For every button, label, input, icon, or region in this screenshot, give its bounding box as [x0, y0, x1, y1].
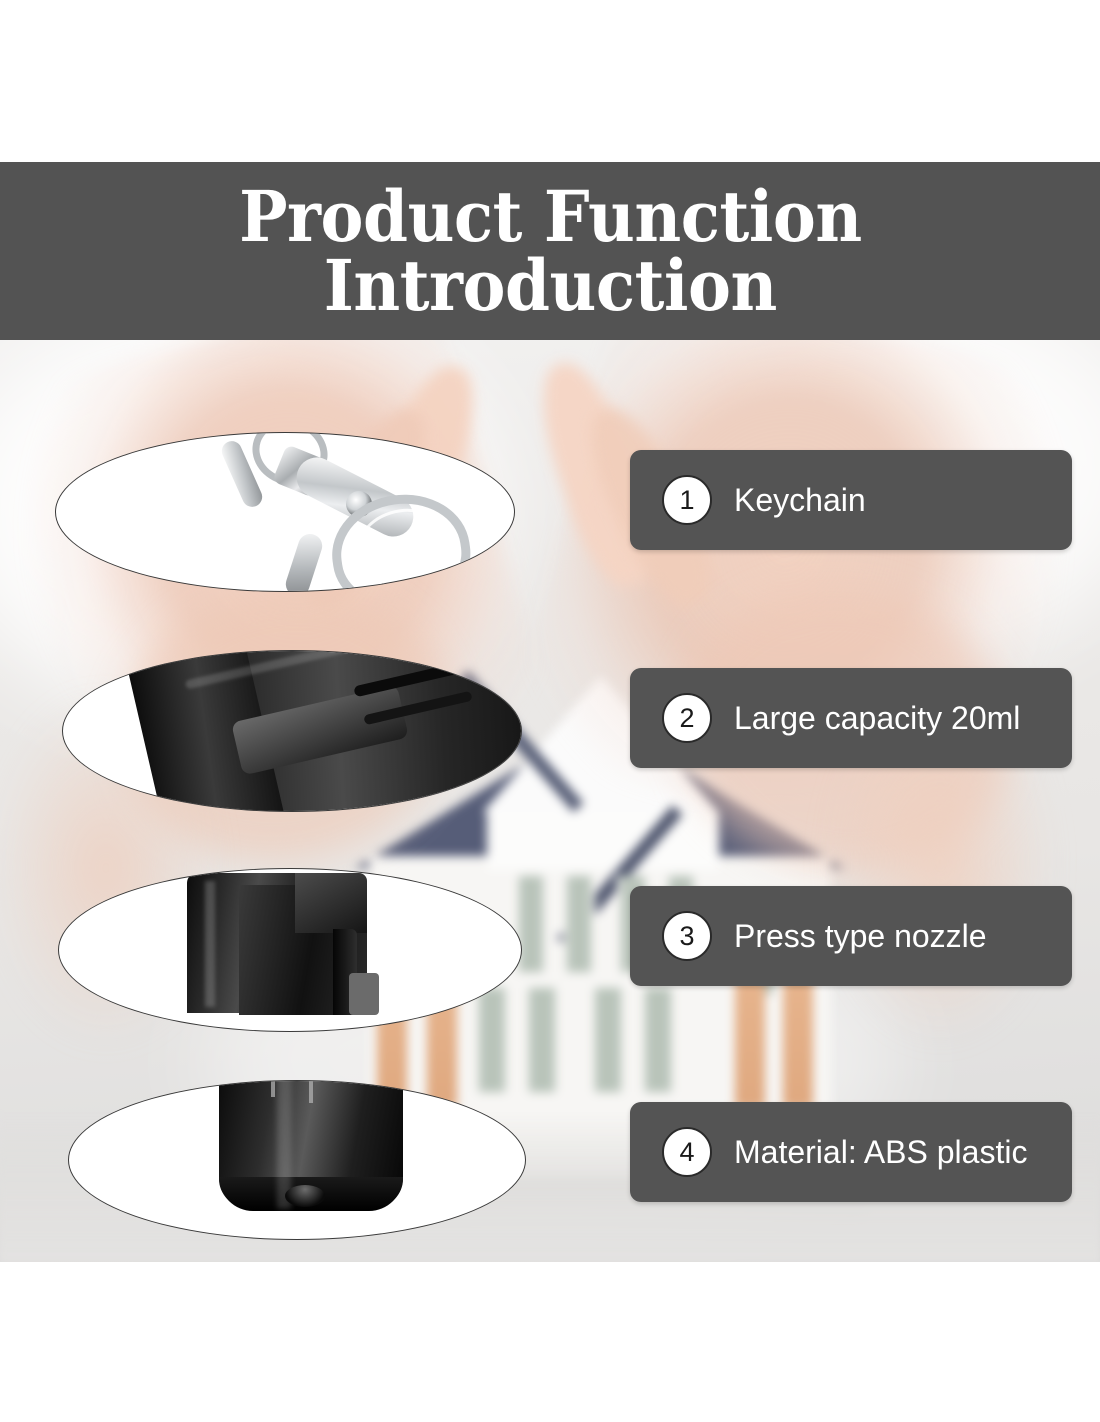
house-window: [641, 988, 675, 1092]
press-nozzle-image: [59, 869, 521, 1031]
infographic-canvas: Product Function Introduction: [0, 0, 1100, 1422]
feature-callout-4[interactable]: 4 Material: ABS plastic: [630, 1102, 1072, 1202]
feature-image-oval-2: [62, 650, 522, 812]
clasp-lever: [283, 531, 326, 592]
background-photo: 1 Keychain 2 Large capacity 20ml 3 Press…: [0, 340, 1100, 1262]
feature-callout-2[interactable]: 2 Large capacity 20ml: [630, 668, 1072, 768]
feature-callout-3[interactable]: 3 Press type nozzle: [630, 886, 1072, 986]
keychain-clasp-image: [56, 433, 514, 591]
house-window: [591, 988, 625, 1092]
bottle-base-dimple: [285, 1185, 325, 1207]
feature-label-2: Large capacity 20ml: [734, 700, 1020, 737]
feature-badge-4: 4: [662, 1127, 712, 1177]
bottle-body-image: [63, 651, 521, 811]
house-window: [525, 988, 559, 1092]
feature-badge-2: 2: [662, 693, 712, 743]
feature-label-3: Press type nozzle: [734, 918, 987, 955]
nozzle-lip: [295, 873, 367, 933]
house-upper-story: [487, 810, 719, 870]
feature-badge-3: 3: [662, 911, 712, 961]
bottle-base-slit: [309, 1080, 313, 1103]
header-banner: Product Function Introduction: [0, 162, 1100, 340]
feature-image-oval-3: [58, 868, 522, 1032]
page-title-line-2: Introduction: [323, 251, 776, 320]
feature-label-4: Material: ABS plastic: [734, 1134, 1027, 1171]
feature-label-1: Keychain: [734, 482, 866, 519]
nozzle-highlight: [205, 881, 215, 1007]
nozzle-collar: [349, 973, 379, 1015]
bottle-base-slit: [271, 1080, 275, 1097]
feature-image-oval-4: [68, 1080, 526, 1240]
feature-image-oval-1: [55, 432, 515, 592]
bottom-margin: [0, 1262, 1100, 1422]
bottle-base-image: [69, 1081, 525, 1239]
page-title-line-1: Product Function: [239, 182, 862, 251]
feature-badge-1: 1: [662, 475, 712, 525]
top-margin: [0, 0, 1100, 162]
house-window: [563, 876, 595, 972]
feature-callout-1[interactable]: 1 Keychain: [630, 450, 1072, 550]
